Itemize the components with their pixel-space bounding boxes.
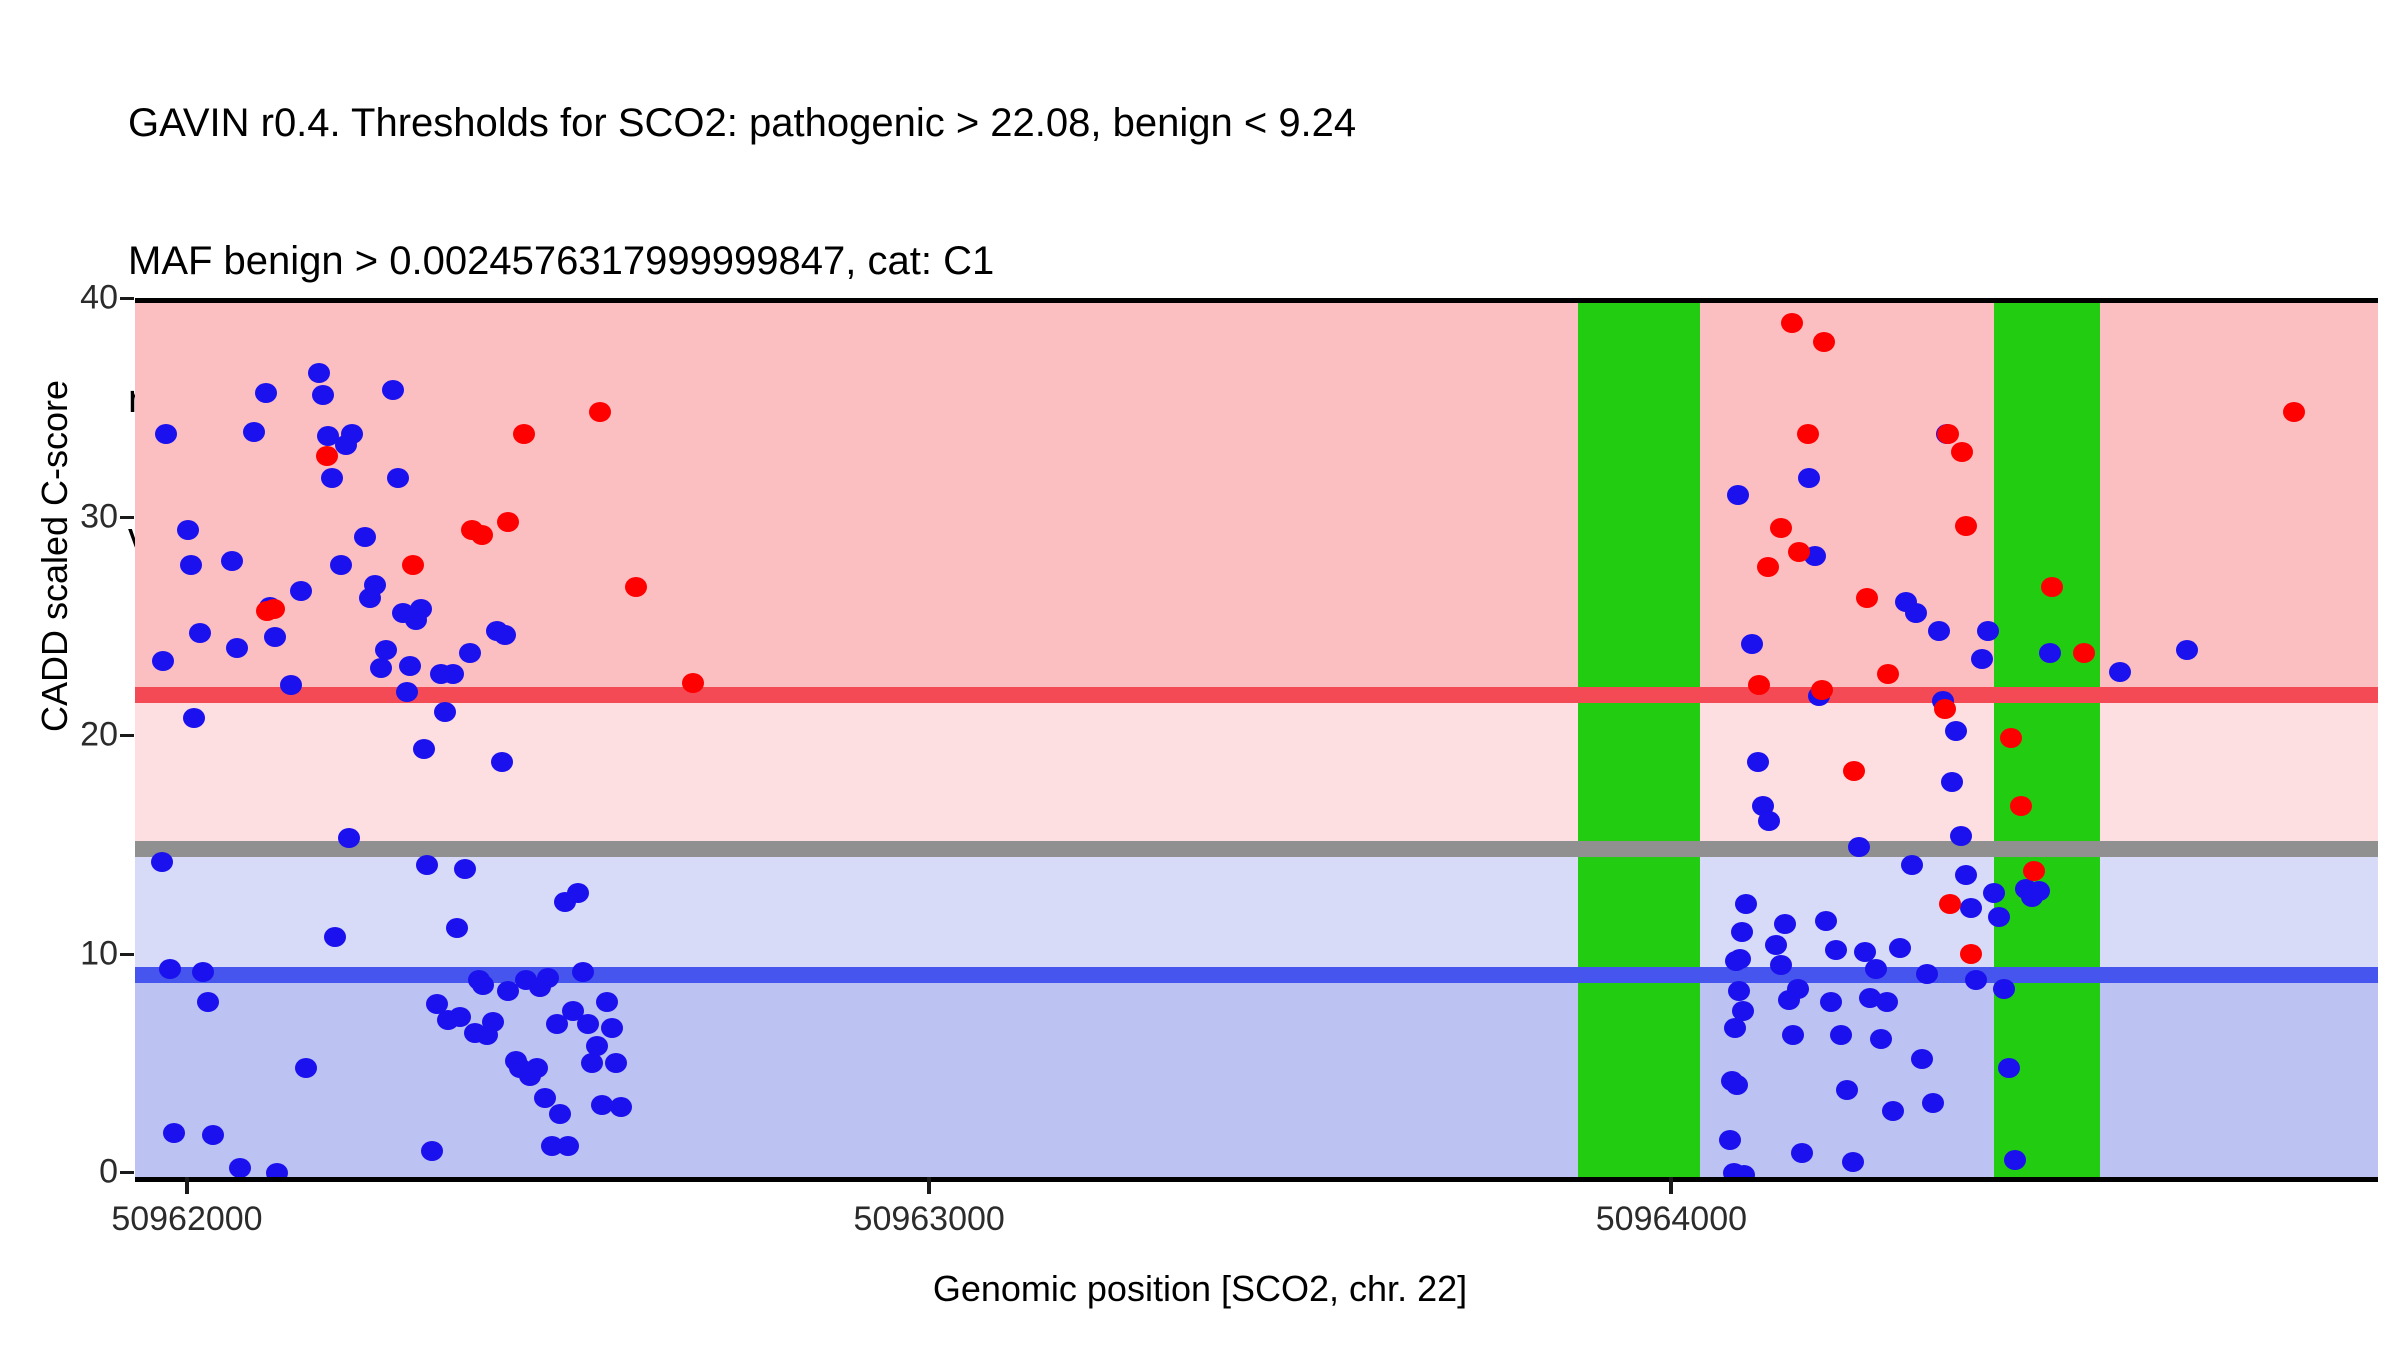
point-clinvar-pathogenic	[497, 512, 519, 532]
point-gnomad-matched	[1889, 938, 1911, 958]
point-gnomad-matched	[1993, 979, 2015, 999]
point-clinvar-pathogenic	[1934, 699, 1956, 719]
point-clinvar-pathogenic	[1781, 313, 1803, 333]
point-gnomad-matched	[567, 883, 589, 903]
point-gnomad-matched	[442, 664, 464, 684]
y-tick-label-0: 0	[99, 1153, 118, 1192]
point-gnomad-matched	[163, 1123, 185, 1143]
point-gnomad-matched	[1901, 855, 1923, 875]
x-axis-label: Genomic position [SCO2, chr. 22]	[0, 1268, 2400, 1310]
point-gnomad-matched	[1928, 621, 1950, 641]
point-gnomad-matched	[421, 1141, 443, 1161]
y-tick-mark-20	[120, 734, 134, 737]
point-gnomad-matched	[266, 1163, 288, 1177]
point-gnomad-matched	[1941, 772, 1963, 792]
title-line-1: GAVIN r0.4. Thresholds for SCO2: pathoge…	[128, 100, 2328, 146]
point-gnomad-matched	[1791, 1143, 1813, 1163]
point-gnomad-matched	[1988, 907, 2010, 927]
threshold-line-pathogenic	[135, 687, 2378, 703]
point-gnomad-matched	[324, 927, 346, 947]
point-gnomad-matched	[341, 424, 363, 444]
y-tick-label-10: 10	[80, 934, 118, 973]
point-clinvar-pathogenic	[1955, 516, 1977, 536]
y-axis-ticks: 010203040	[0, 0, 118, 1350]
x-tick-mark-50962000	[185, 1177, 189, 1194]
point-gnomad-matched	[1865, 959, 1887, 979]
point-clinvar-pathogenic	[402, 555, 424, 575]
point-gnomad-matched	[2039, 643, 2061, 663]
point-clinvar-pathogenic	[1813, 332, 1835, 352]
point-gnomad-matched	[1983, 883, 2005, 903]
y-tick-mark-40	[120, 297, 134, 300]
point-gnomad-matched	[434, 702, 456, 722]
point-gnomad-matched	[1922, 1093, 1944, 1113]
plot-root: GAVIN r0.4. Thresholds for SCO2: pathoge…	[0, 0, 2400, 1350]
point-gnomad-matched	[308, 363, 330, 383]
point-gnomad-matched	[1719, 1130, 1741, 1150]
point-clinvar-pathogenic	[1788, 542, 1810, 562]
point-gnomad-matched	[2028, 881, 2050, 901]
y-tick-label-40: 40	[80, 279, 118, 318]
point-gnomad-matched	[338, 828, 360, 848]
point-clinvar-pathogenic	[1937, 424, 1959, 444]
point-gnomad-matched	[1774, 914, 1796, 934]
point-gnomad-matched	[1836, 1080, 1858, 1100]
point-gnomad-matched	[1747, 752, 1769, 772]
point-gnomad-matched	[572, 962, 594, 982]
x-tick-label-50962000: 50962000	[111, 1200, 262, 1239]
point-gnomad-matched	[1998, 1058, 2020, 1078]
point-gnomad-matched	[151, 852, 173, 872]
point-clinvar-pathogenic	[2000, 728, 2022, 748]
point-gnomad-matched	[1741, 634, 1763, 654]
point-gnomad-matched	[1830, 1025, 1852, 1045]
point-clinvar-pathogenic	[1951, 442, 1973, 462]
point-gnomad-matched	[454, 859, 476, 879]
point-gnomad-matched	[549, 1104, 571, 1124]
point-gnomad-matched	[472, 975, 494, 995]
title-line-2: MAF benign > 0.0024576317999999847, cat:…	[128, 238, 2328, 284]
point-gnomad-matched	[255, 383, 277, 403]
point-gnomad-matched	[387, 468, 409, 488]
point-clinvar-pathogenic	[1797, 424, 1819, 444]
point-gnomad-matched	[459, 643, 481, 663]
point-gnomad-matched	[1977, 621, 1999, 641]
x-tick-label-50963000: 50963000	[854, 1200, 1005, 1239]
point-gnomad-matched	[229, 1158, 251, 1177]
point-gnomad-matched	[494, 625, 516, 645]
point-gnomad-matched	[354, 527, 376, 547]
x-tick-mark-50963000	[927, 1177, 931, 1194]
point-gnomad-matched	[601, 1018, 623, 1038]
point-clinvar-pathogenic	[1843, 761, 1865, 781]
point-gnomad-matched	[482, 1012, 504, 1032]
point-gnomad-matched	[264, 627, 286, 647]
y-tick-mark-30	[120, 516, 134, 519]
y-tick-mark-0	[120, 1171, 134, 1174]
point-gnomad-matched	[197, 992, 219, 1012]
point-gnomad-matched	[526, 1058, 548, 1078]
y-tick-label-30: 30	[80, 497, 118, 536]
point-clinvar-pathogenic	[316, 446, 338, 466]
point-gnomad-matched	[2176, 640, 2198, 660]
point-gnomad-matched	[2004, 1150, 2026, 1170]
point-gnomad-matched	[1882, 1101, 1904, 1121]
point-gnomad-matched	[1735, 894, 1757, 914]
point-gnomad-matched	[180, 555, 202, 575]
point-gnomad-matched	[446, 918, 468, 938]
point-clinvar-pathogenic	[625, 577, 647, 597]
point-gnomad-matched	[399, 656, 421, 676]
point-gnomad-matched	[1770, 955, 1792, 975]
point-clinvar-pathogenic	[471, 525, 493, 545]
point-clinvar-pathogenic	[513, 424, 535, 444]
point-gnomad-matched	[312, 385, 334, 405]
plot-area	[135, 303, 2378, 1177]
x-tick-label-50964000: 50964000	[1596, 1200, 1747, 1239]
point-gnomad-matched	[192, 962, 214, 982]
threshold-line-fallback	[135, 841, 2378, 857]
point-gnomad-matched	[221, 551, 243, 571]
plot-panel	[135, 298, 2378, 1182]
point-gnomad-matched	[1758, 811, 1780, 831]
point-gnomad-matched	[177, 520, 199, 540]
point-clinvar-pathogenic	[1811, 680, 1833, 700]
point-gnomad-matched	[1911, 1049, 1933, 1069]
point-gnomad-matched	[1782, 1025, 1804, 1045]
point-gnomad-matched	[1725, 951, 1747, 971]
point-gnomad-matched	[243, 422, 265, 442]
point-clinvar-pathogenic	[2073, 643, 2095, 663]
y-tick-mark-10	[120, 953, 134, 956]
point-clinvar-pathogenic	[2010, 796, 2032, 816]
y-tick-label-20: 20	[80, 716, 118, 755]
point-gnomad-matched	[416, 855, 438, 875]
point-gnomad-matched	[577, 1014, 599, 1034]
point-gnomad-matched	[1842, 1152, 1864, 1172]
point-gnomad-matched	[1825, 940, 1847, 960]
point-gnomad-matched	[1876, 992, 1898, 1012]
point-gnomad-matched	[396, 682, 418, 702]
point-gnomad-matched	[1787, 979, 1809, 999]
point-gnomad-matched	[1950, 826, 1972, 846]
x-tick-mark-50964000	[1669, 1177, 1673, 1194]
point-gnomad-matched	[189, 623, 211, 643]
point-clinvar-pathogenic	[263, 599, 285, 619]
exon-rect-1	[1578, 303, 1700, 1177]
point-gnomad-matched	[491, 752, 513, 772]
